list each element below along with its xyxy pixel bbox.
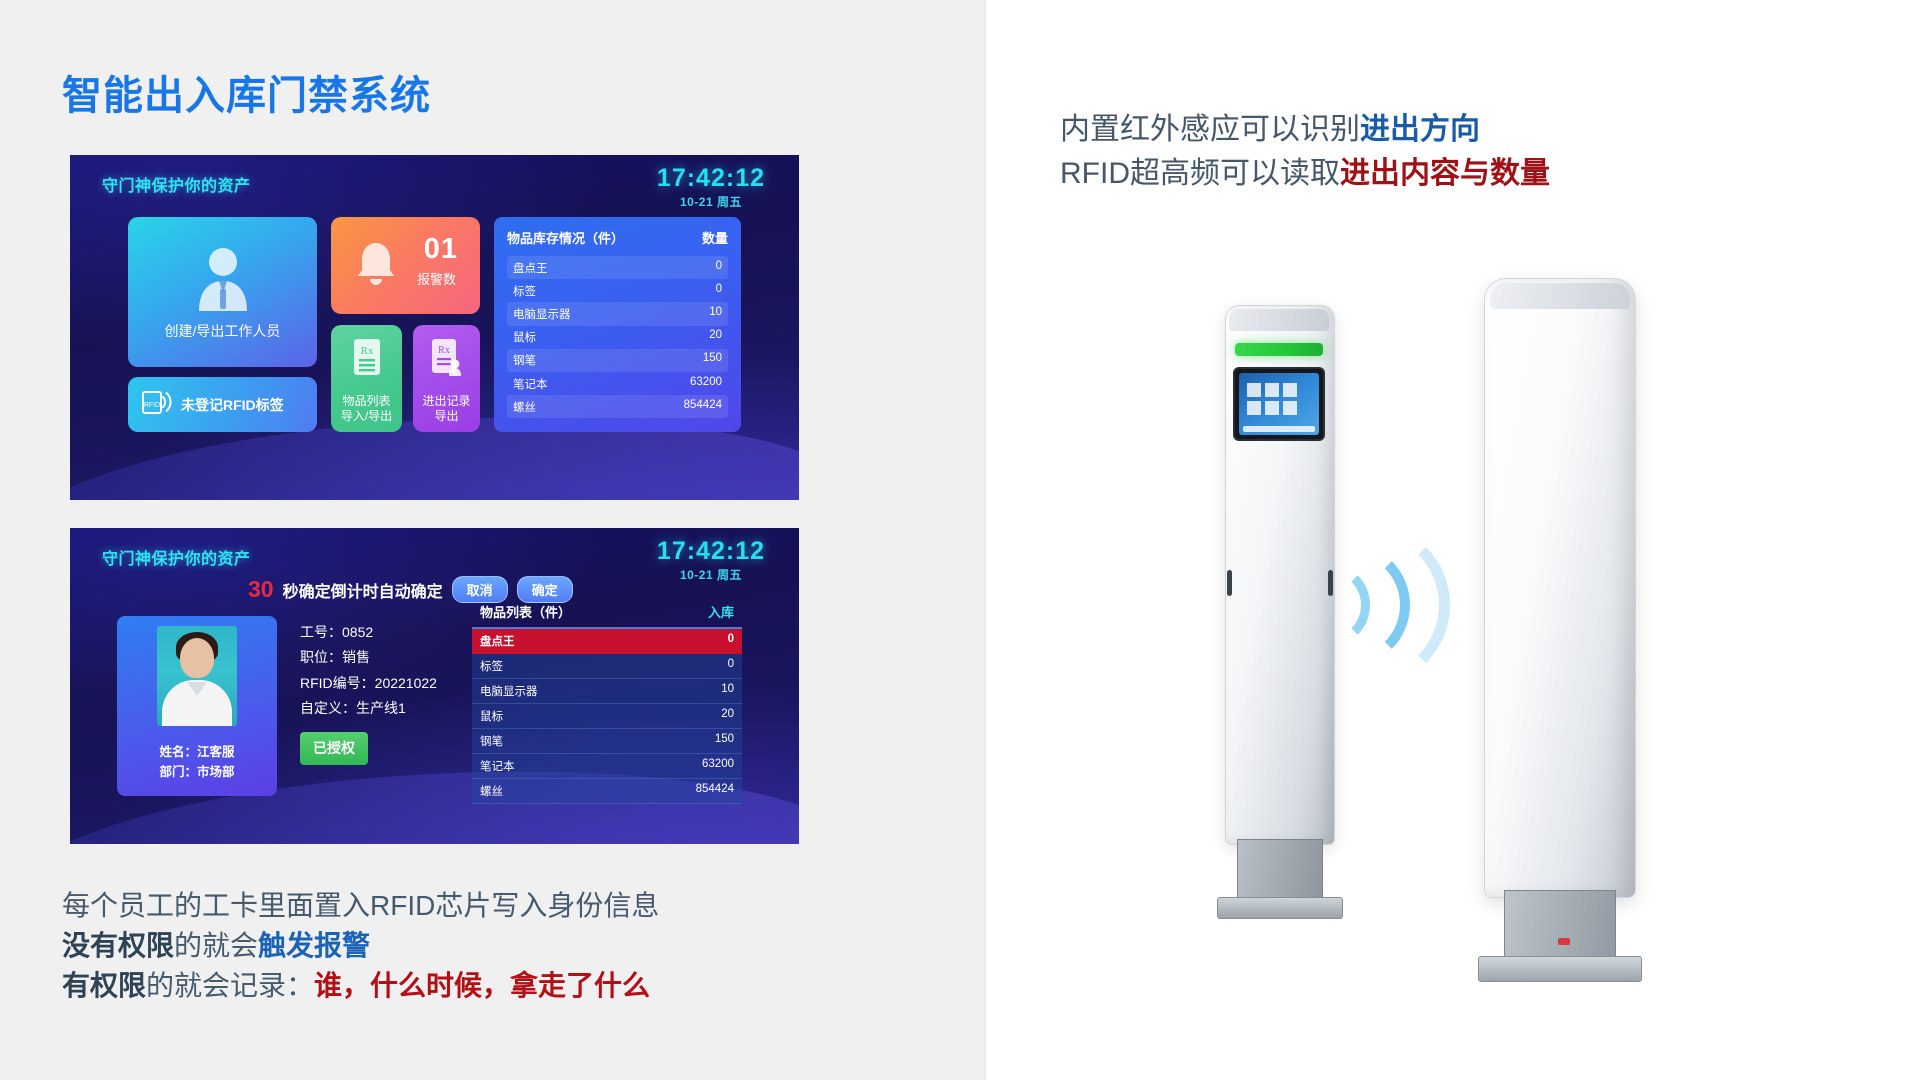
item-name: 鼠标 [480, 708, 503, 724]
countdown-text: 秒确定倒计时自动确定 [283, 578, 443, 602]
item-name: 标签 [480, 658, 503, 674]
dashboard-screenshot-authorization: 守门神保护你的资产 17:42:12 10-21 周五 30 秒确定倒计时自动确… [70, 528, 799, 844]
inventory-item-qty: 20 [709, 329, 722, 345]
table-row: 盘点王0 [507, 256, 728, 279]
tile-label-records: 进出记录 导出 [413, 394, 480, 424]
cancel-button[interactable]: 取消 [452, 576, 508, 603]
item-qty: 0 [728, 633, 734, 649]
item-list-table: 物品列表（件） 入库 盘点王0标签0电脑显示器10鼠标20钢笔150笔记本632… [472, 602, 742, 804]
countdown-seconds: 30 [248, 576, 274, 603]
caption-line-3: 有权限的就会记录：谁，什么时候，拿走了什么 [62, 966, 659, 1006]
table-row: 鼠标20 [472, 704, 742, 729]
inventory-rows: 盘点王0标签0电脑显示器10鼠标20钢笔150笔记本63200螺丝854424 [507, 256, 728, 418]
employee-department: 部门：市场部 [117, 763, 277, 782]
pillar-status-light-green [1235, 343, 1323, 356]
item-name: 螺丝 [480, 783, 503, 799]
tile-unregistered-rfid-tags[interactable]: RFID 未登记RFID标签 [128, 377, 317, 432]
right-heading-line-2: RFID超高频可以读取进出内容与数量 [1060, 152, 1550, 196]
inventory-item-name: 标签 [513, 283, 536, 299]
inventory-item-qty: 0 [716, 283, 722, 299]
screen-tile [1283, 383, 1297, 397]
tile-label-items-line2: 导入/导出 [331, 409, 402, 424]
dashboard-header-title-2: 守门神保护你的资产 [102, 545, 251, 569]
caption-line-2: 没有权限的就会触发报警 [62, 926, 659, 966]
pillar-top-cap [1490, 283, 1630, 309]
right-heading-line1-b: 进出方向 [1360, 113, 1480, 146]
rfid-icon: RFID [142, 388, 172, 421]
tile-label-records-line2: 导出 [413, 409, 480, 424]
pillar-body [1484, 278, 1636, 898]
item-list-header-right: 入库 [708, 602, 734, 621]
tile-inout-record-export[interactable]: Rx 进出记录 导出 [413, 325, 480, 432]
right-heading-line-1: 内置红外感应可以识别进出方向 [1060, 108, 1550, 152]
employee-card: 姓名：江客服 部门：市场部 [117, 616, 277, 796]
table-row: 钢笔150 [472, 729, 742, 754]
table-row: 电脑显示器10 [507, 302, 728, 325]
clock-time-2: 17:42:12 [657, 538, 765, 564]
caption-line-1: 每个员工的工卡里面置入RFID芯片写入身份信息 [62, 886, 659, 926]
item-name: 笔记本 [480, 758, 515, 774]
right-heading-block: 内置红外感应可以识别进出方向 RFID超高频可以读取进出内容与数量 [1060, 108, 1550, 195]
person-icon [193, 245, 253, 322]
inventory-item-qty: 854424 [684, 399, 722, 415]
rfid-gate-pillar-with-screen [1215, 305, 1345, 905]
svg-text:RFID: RFID [144, 402, 160, 409]
item-name: 钢笔 [480, 733, 503, 749]
tile-item-list-import-export[interactable]: Rx 物品列表 导入/导出 [331, 325, 402, 432]
inventory-item-qty: 63200 [690, 376, 722, 392]
item-name: 电脑显示器 [480, 683, 538, 699]
inventory-item-name: 笔记本 [513, 376, 548, 392]
document-rx-icon: Rx [350, 337, 384, 384]
dashboard-clock-2: 17:42:12 10-21 周五 [657, 538, 765, 583]
clock-date-2: 10-21 周五 [657, 566, 765, 583]
table-row: 笔记本63200 [507, 372, 728, 395]
table-row: 笔记本63200 [472, 754, 742, 779]
table-row: 鼠标20 [507, 326, 728, 349]
tile-label-items: 物品列表 导入/导出 [331, 394, 402, 424]
table-row: 电脑显示器10 [472, 679, 742, 704]
inventory-item-name: 电脑显示器 [513, 306, 571, 322]
screen-tile [1265, 401, 1279, 415]
right-heading-line1-a: 内置红外感应可以识别 [1060, 113, 1360, 146]
item-name: 盘点王 [480, 633, 515, 649]
employee-position: 职位：销售 [300, 645, 437, 670]
tile-alarm-count[interactable]: 01 报警数 [331, 217, 480, 314]
left-content-panel: 智能出入库门禁系统 守门神保护你的资产 17:42:12 10-21 周五 创建… [0, 0, 985, 1080]
caption-block: 每个员工的工卡里面置入RFID芯片写入身份信息 没有权限的就会触发报警 有权限的… [62, 886, 659, 1005]
caption-line2-a: 没有权限 [62, 930, 174, 961]
document-rx-person-icon: Rx [430, 337, 464, 384]
item-qty: 150 [715, 733, 734, 749]
screen-content [1239, 373, 1319, 435]
clock-date: 10-21 周五 [657, 193, 765, 210]
pillar-pedestal [1237, 839, 1323, 905]
page-title: 智能出入库门禁系统 [62, 63, 431, 121]
inventory-item-qty: 0 [716, 260, 722, 276]
bell-icon [353, 239, 399, 294]
caption-line2-b: 的就会 [174, 930, 258, 961]
photo-head [180, 638, 214, 678]
screen-tile [1265, 383, 1279, 397]
screen-taskbar [1243, 426, 1315, 432]
pillar-sensor-right [1328, 570, 1333, 596]
employee-meta: 姓名：江客服 部门：市场部 [117, 743, 277, 782]
tile-create-export-staff[interactable]: 创建/导出工作人员 [128, 217, 317, 367]
rfid-gate-pillar-blank [1470, 278, 1650, 938]
table-row: 螺丝854424 [507, 395, 728, 418]
inventory-item-qty: 10 [709, 306, 722, 322]
employee-id: 工号：0852 [300, 620, 437, 645]
tile-label-rfid: 未登记RFID标签 [181, 395, 284, 415]
screen-tile [1247, 383, 1261, 397]
table-row-alert: 盘点王0 [472, 629, 742, 654]
inventory-table: 物品库存情况（件） 数量 盘点王0标签0电脑显示器10鼠标20钢笔150笔记本6… [494, 217, 741, 432]
caption-line3-c: 谁，什么时候，拿走了什么 [314, 970, 650, 1001]
item-qty: 10 [721, 683, 734, 699]
right-heading-line2-b: 进出内容与数量 [1340, 157, 1550, 190]
item-list-header-left: 物品列表（件） [480, 602, 571, 621]
pillar-indicator-red [1558, 938, 1570, 945]
right-heading-line2-a: RFID超高频可以读取 [1060, 157, 1340, 190]
screen-tile [1283, 401, 1297, 415]
item-qty: 0 [728, 658, 734, 674]
inventory-item-name: 钢笔 [513, 352, 536, 368]
caption-line2-c: 触发报警 [258, 930, 370, 961]
tile-label-items-line1: 物品列表 [331, 394, 402, 409]
dashboard-screenshot-main: 守门神保护你的资产 17:42:12 10-21 周五 创建/导出工作人员 [70, 155, 799, 500]
pillar-sensor-left [1227, 570, 1232, 596]
confirm-button[interactable]: 确定 [517, 576, 573, 603]
svg-text:Rx: Rx [438, 345, 450, 356]
status-badge-authorized: 已授权 [300, 732, 368, 765]
table-row: 螺丝854424 [472, 779, 742, 804]
table-row: 标签0 [472, 654, 742, 679]
employee-name: 姓名：江客服 [117, 743, 277, 762]
dashboard-clock: 17:42:12 10-21 周五 [657, 165, 765, 210]
inventory-header-right: 数量 [702, 228, 728, 247]
employee-photo [157, 626, 237, 726]
item-list-rows: 盘点王0标签0电脑显示器10鼠标20钢笔150笔记本63200螺丝854424 [472, 629, 742, 804]
item-list-header: 物品列表（件） 入库 [472, 602, 742, 629]
item-qty: 20 [721, 708, 734, 724]
tile-label-records-line1: 进出记录 [413, 394, 480, 409]
pillar-top-cap [1229, 309, 1329, 331]
pillar-display-screen [1233, 367, 1325, 441]
svg-text:Rx: Rx [360, 345, 373, 357]
employee-details: 工号：0852 职位：销售 RFID编号：20221022 自定义：生产线1 已… [300, 620, 437, 765]
screen-tile [1247, 401, 1261, 415]
dashboard-header-title: 守门神保护你的资产 [102, 172, 251, 196]
employee-rfid: RFID编号：20221022 [300, 671, 437, 696]
inventory-item-name: 螺丝 [513, 399, 536, 415]
table-row: 标签0 [507, 279, 728, 302]
employee-custom: 自定义：生产线1 [300, 696, 437, 721]
alarm-count-value: 01 [424, 233, 458, 266]
panel-divider [985, 0, 986, 1080]
clock-time: 17:42:12 [657, 165, 765, 191]
table-row: 钢笔150 [507, 349, 728, 372]
caption-line3-b: 的就会记录： [146, 970, 314, 1001]
inventory-table-header: 物品库存情况（件） 数量 [507, 228, 728, 256]
item-qty: 63200 [702, 758, 734, 774]
item-qty: 854424 [696, 783, 734, 799]
tile-label-staff: 创建/导出工作人员 [128, 321, 317, 341]
photo-collar [187, 682, 207, 696]
caption-line3-a: 有权限 [62, 970, 146, 1001]
inventory-header-left: 物品库存情况（件） [507, 228, 624, 247]
inventory-item-name: 盘点王 [513, 260, 548, 276]
countdown-bar: 30 秒确定倒计时自动确定 取消 确定 [248, 576, 573, 603]
pillar-base-plate [1217, 897, 1343, 919]
alarm-count-label: 报警数 [417, 269, 456, 288]
inventory-item-name: 鼠标 [513, 329, 536, 345]
inventory-item-qty: 150 [703, 352, 722, 368]
pillar-base-plate [1478, 956, 1642, 982]
